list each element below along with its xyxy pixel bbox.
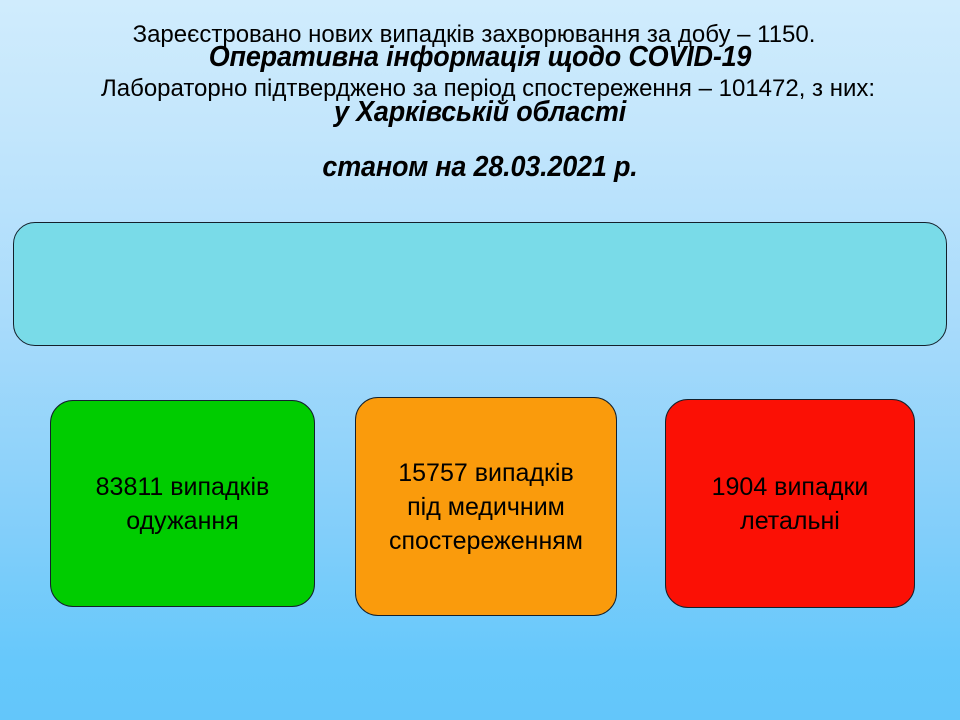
covid-info-slide: Оперативна інформація щодо COVID-19 у Ха… [0,0,960,720]
stat-box-under-observation: 15757 випадків під медичним спостереженн… [355,397,617,616]
stat-recovered-text: 83811 випадків одужання [88,470,278,538]
new-cases-line: Зареєстровано нових випадків захворюванн… [133,8,816,62]
total-confirmed-line: Лабораторно підтверджено за період спост… [101,62,875,116]
summary-info-text: Зареєстровано нових випадків захворюванн… [0,0,960,124]
title-line-3: станом на 28.03.2021 р. [34,140,927,195]
stat-observation-text: 15757 випадків під медичним спостереженн… [381,456,591,558]
summary-info-box [13,222,947,346]
stat-fatal-text: 1904 випадки летальні [704,470,877,538]
stat-box-fatal: 1904 випадки летальні [665,399,915,608]
stat-box-recovered: 83811 випадків одужання [50,400,315,607]
